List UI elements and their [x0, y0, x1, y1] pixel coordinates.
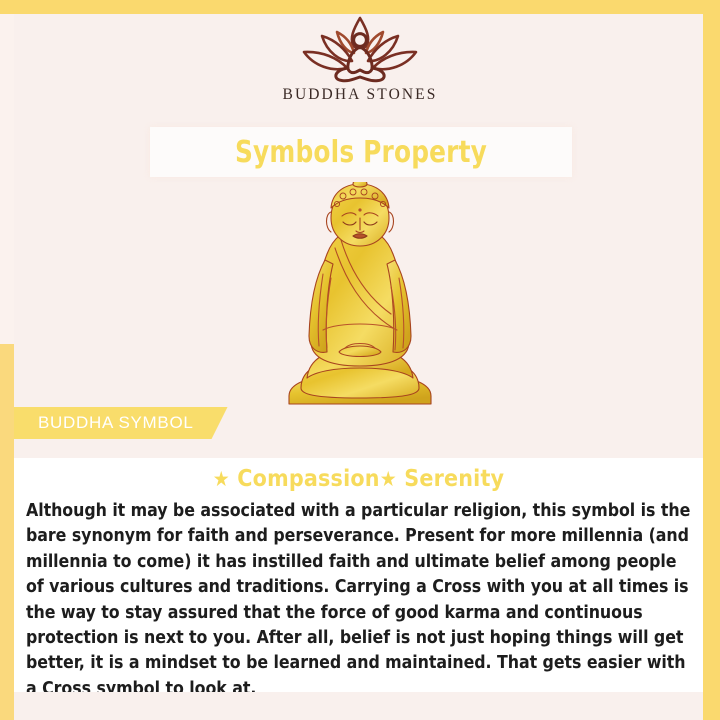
star-icon: ★ — [380, 467, 397, 491]
buddha-illustration — [0, 182, 720, 408]
right-accent-bar — [703, 0, 720, 720]
brand-name: BUDDHA STONES — [283, 86, 438, 104]
promo-infographic-page: BUDDHA STONES Symbols Property — [0, 0, 720, 720]
left-accent-bar — [0, 344, 14, 720]
lotus-meditation-icon — [290, 12, 430, 84]
attribute-compassion: Compassion — [230, 466, 380, 492]
star-icon: ★ — [213, 467, 230, 491]
page-title: Symbols Property — [235, 135, 487, 170]
attributes-heading: ★ Compassion★ Serenity — [14, 466, 703, 492]
golden-seated-buddha-illustration — [267, 182, 453, 408]
description-paragraph: Although it may be associated with a par… — [14, 499, 703, 702]
attribute-serenity: Serenity — [397, 466, 504, 492]
symbol-category-label: BUDDHA SYMBOL — [38, 413, 194, 433]
bottom-accent-bar — [14, 692, 703, 720]
description-panel: ★ Compassion★ Serenity Although it may b… — [14, 458, 703, 692]
symbol-category-tag: BUDDHA SYMBOL — [14, 407, 228, 439]
brand-logo: BUDDHA STONES — [0, 12, 720, 104]
title-banner: Symbols Property — [150, 127, 572, 177]
top-accent-bar — [0, 0, 720, 14]
